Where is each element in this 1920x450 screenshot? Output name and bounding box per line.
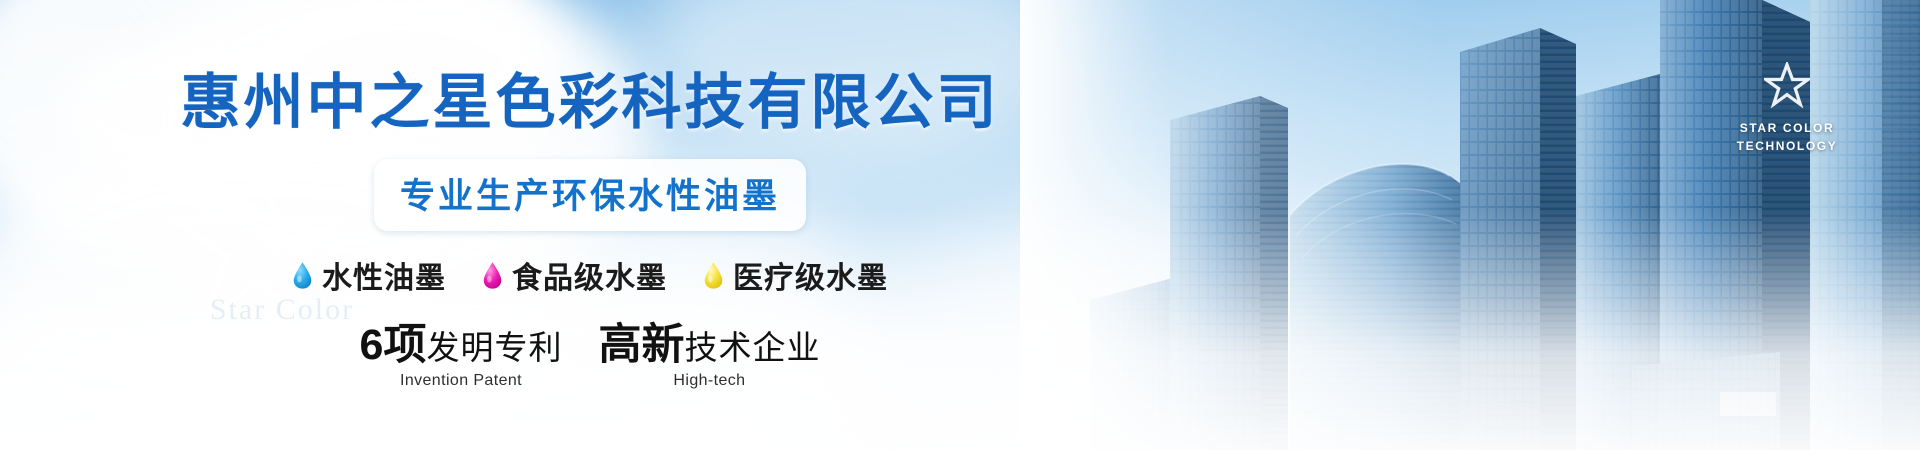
company-title: 惠州中之星色彩科技有限公司 (181, 54, 1000, 141)
banner-content: 惠州中之星色彩科技有限公司 专业生产环保水性油墨 水性油 (0, 0, 1180, 450)
feature-label: 医疗级水墨 (733, 253, 888, 297)
credential-english: High-tech (598, 372, 820, 390)
water-drop-icon (292, 261, 313, 290)
feature-item: 医疗级水墨 (703, 253, 888, 297)
company-logo-badge: STAR COLOR TECHNOLOGY (1712, 62, 1862, 155)
logo-line-2: TECHNOLOGY (1712, 138, 1862, 155)
credential-highlight: 6项 (360, 321, 427, 369)
credentials-row: 6项发明专利 Invention Patent 高新技术企业 High-tech (360, 323, 821, 390)
credential-item: 高新技术企业 High-tech (598, 323, 820, 390)
credential-main: 高新技术企业 (598, 323, 820, 368)
credential-english: Invention Patent (360, 372, 563, 390)
tagline-pill: 专业生产环保水性油墨 (374, 159, 806, 231)
credential-item: 6项发明专利 Invention Patent (360, 323, 563, 390)
credential-main: 6项发明专利 (360, 323, 563, 368)
credential-text: 技术企业 (684, 329, 820, 366)
feature-label: 食品级水墨 (512, 253, 667, 297)
tagline-text: 专业生产环保水性油墨 (400, 168, 780, 219)
credential-highlight: 高新 (598, 321, 684, 369)
water-drop-icon (482, 261, 503, 290)
feature-item: 食品级水墨 (482, 253, 667, 297)
promotional-banner: Star Color STAR COLOR TECHNOLOGY 惠州中之星色彩… (0, 0, 1920, 450)
star-logo-icon (1764, 62, 1810, 108)
credential-text: 发明专利 (426, 329, 562, 366)
logo-line-1: STAR COLOR (1712, 120, 1862, 137)
product-feature-list: 水性油墨 食品级水墨 (292, 253, 888, 297)
feature-label: 水性油墨 (322, 253, 446, 297)
feature-item: 水性油墨 (292, 253, 446, 297)
water-drop-icon (703, 261, 724, 290)
